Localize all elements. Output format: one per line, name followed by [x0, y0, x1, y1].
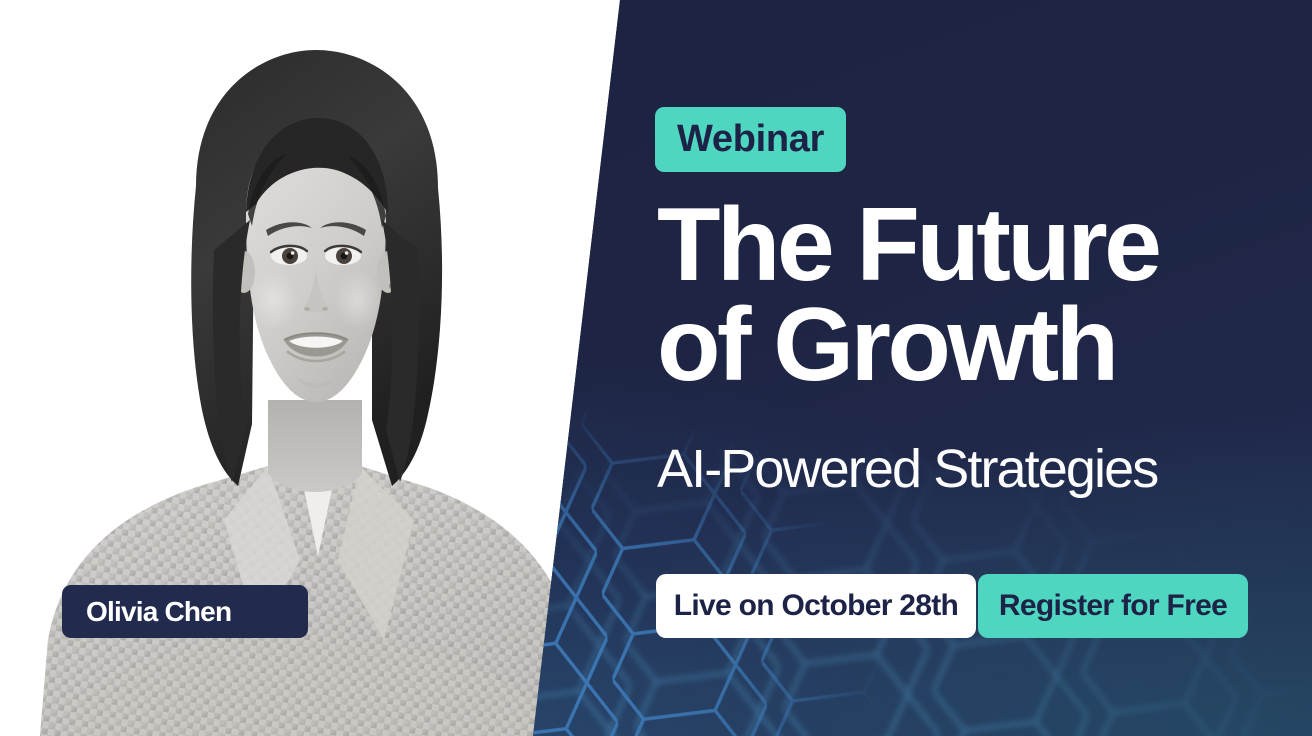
webinar-promo-poster: Webinar The Future of Growth AI-Powered …: [0, 0, 1312, 736]
speaker-name-plate: Olivia Chen: [62, 585, 308, 638]
subtitle: AI-Powered Strategies: [657, 438, 1157, 500]
headline-line-2: of Growth: [657, 296, 1267, 396]
register-button[interactable]: Register for Free: [978, 574, 1248, 638]
poster-content: Webinar The Future of Growth AI-Powered …: [655, 0, 1255, 736]
webinar-badge: Webinar: [655, 107, 846, 172]
headline-line-1: The Future: [657, 196, 1267, 296]
live-date-button[interactable]: Live on October 28th: [656, 574, 976, 638]
cta-button-group: Live on October 28th Register for Free: [656, 574, 1248, 638]
page-title: The Future of Growth: [657, 196, 1267, 396]
